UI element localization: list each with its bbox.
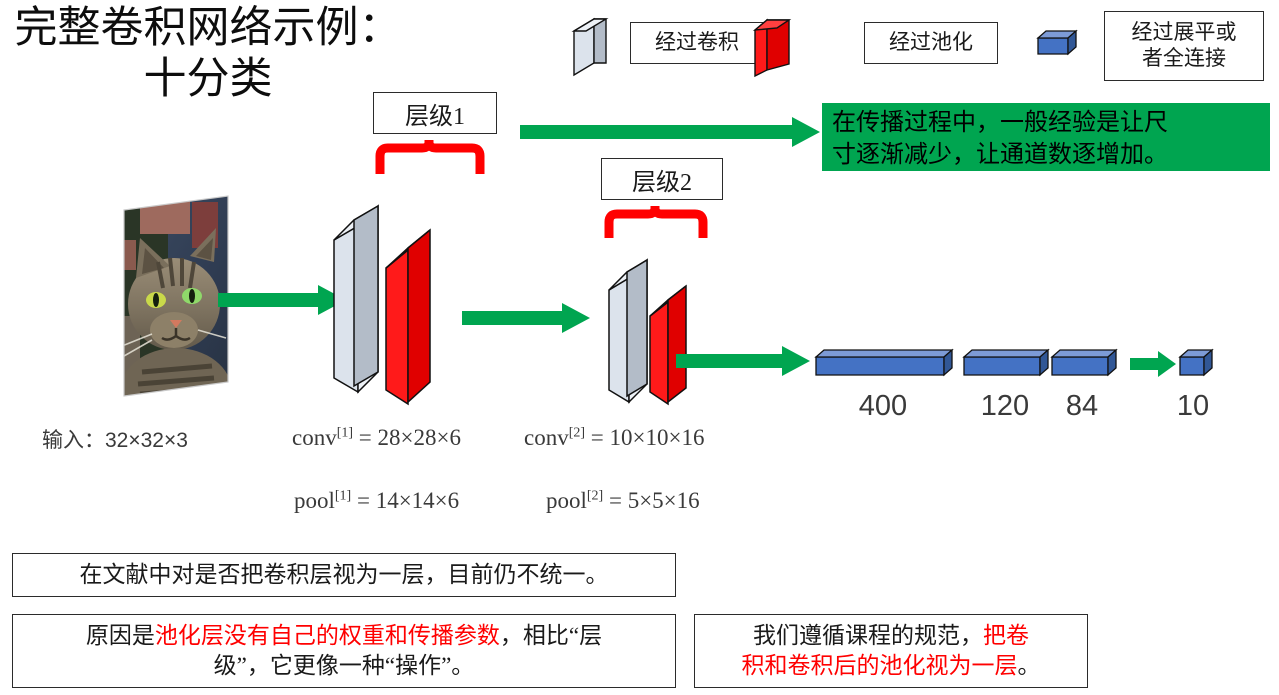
legend-blue-box-icon xyxy=(1036,28,1080,58)
legend-label-flatten-line1: 经过展平或 xyxy=(1132,20,1237,46)
formula-pool1-sup: [1] xyxy=(335,488,351,503)
layer2-pool-slab xyxy=(646,258,742,408)
page-title-line1: 完整卷积网络示例： xyxy=(15,5,402,52)
legend-label-pool: 经过池化 xyxy=(889,30,973,56)
fc-node-120 xyxy=(962,347,1058,379)
formula-conv2-name: conv xyxy=(524,425,569,450)
formula-pool1-val: = 14×14×6 xyxy=(351,488,459,513)
footnote-box-2-l1-black: 原因是 xyxy=(86,623,155,648)
legend-item-pool: 经过池化 xyxy=(864,22,998,64)
footnote-box-3-l1-black: 我们遵循课程的规范， xyxy=(753,623,983,648)
arrow-layer2-to-fc xyxy=(676,344,812,378)
footnote-box-3-line2: 积和卷积后的池化视为一层。 xyxy=(742,651,1041,681)
fc-label-84: 84 xyxy=(1048,390,1116,423)
formula-conv1: conv[1] = 28×28×6 xyxy=(292,425,461,451)
fc-label-10: 10 xyxy=(1162,390,1224,423)
footnote-box-2: 原因是池化层没有自己的权重和传播参数，相比“层 级”，它更像一种“操作”。 xyxy=(12,614,676,688)
footnote-box-2-line1: 原因是池化层没有自己的权重和传播参数，相比“层 xyxy=(86,621,602,651)
footnote-box-3-l2-black: 。 xyxy=(1018,653,1041,678)
layer1-tag: 层级1 xyxy=(373,92,497,134)
formula-conv1-sup: [1] xyxy=(337,425,353,440)
layer2-tag-label: 层级2 xyxy=(632,162,692,197)
fc-label-400: 400 xyxy=(814,390,952,423)
formula-conv2-sup: [2] xyxy=(569,425,585,440)
arrow-input-to-layer1 xyxy=(218,282,348,318)
footnote-box-3-line1: 我们遵循课程的规范，把卷 xyxy=(753,621,1029,651)
formula-conv2-val: = 10×10×16 xyxy=(585,425,704,450)
arrow-fc-to-output xyxy=(1130,350,1178,378)
fc-node-400 xyxy=(814,347,962,379)
footnote-box-3-l2-red: 积和卷积后的池化视为一层 xyxy=(742,653,1018,678)
formula-pool2-sup: [2] xyxy=(587,488,603,503)
fc-label-120: 120 xyxy=(962,390,1048,423)
green-note-box: 在传播过程中，一般经验是让尺 寸逐渐减少，让通道数逐增加。 xyxy=(822,103,1270,171)
legend-label-conv: 经过卷积 xyxy=(655,30,739,56)
footnote-box-1-text: 在文献中对是否把卷积层视为一层，目前仍不统一。 xyxy=(80,560,609,590)
footnote-box-2-line2: 级”，它更像一种“操作”。 xyxy=(214,651,475,681)
formula-conv1-name: conv xyxy=(292,425,337,450)
green-note-line2: 寸逐渐减少，让通道数逐增加。 xyxy=(832,139,1260,171)
formula-pool2-val: = 5×5×16 xyxy=(603,488,699,513)
legend-gray-slab-icon xyxy=(568,17,614,79)
legend-item-flatten: 经过展平或 者全连接 xyxy=(1104,11,1264,81)
fc-node-10 xyxy=(1178,347,1222,379)
fc-node-84 xyxy=(1050,347,1124,379)
formula-conv2: conv[2] = 10×10×16 xyxy=(524,425,704,451)
input-label: 输入：32×32×3 xyxy=(42,424,188,454)
formula-conv1-val: = 28×28×6 xyxy=(353,425,461,450)
arrow-layer1-to-layer2 xyxy=(462,300,592,336)
page-title-line2: 十分类 xyxy=(8,55,408,106)
footnote-box-1: 在文献中对是否把卷积层视为一层，目前仍不统一。 xyxy=(12,553,676,597)
layer1-tag-label: 层级1 xyxy=(405,96,465,131)
legend-item-conv: 经过卷积 xyxy=(630,22,764,64)
green-note-line1: 在传播过程中，一般经验是让尺 xyxy=(832,107,1260,139)
formula-pool2-name: pool xyxy=(546,488,587,513)
footnote-box-2-l1-black2: ，相比“层 xyxy=(500,623,602,648)
formula-pool1: pool[1] = 14×14×6 xyxy=(294,488,459,514)
legend-red-slab-icon xyxy=(749,14,797,80)
layer2-tag: 层级2 xyxy=(601,158,723,200)
footnote-box-3-l1-red: 把卷 xyxy=(983,623,1029,648)
footnote-box-2-l1-red: 池化层没有自己的权重和传播参数 xyxy=(155,623,500,648)
formula-pool1-name: pool xyxy=(294,488,335,513)
arrow-layer1-to-note xyxy=(520,115,822,149)
footnote-box-3: 我们遵循课程的规范，把卷 积和卷积后的池化视为一层。 xyxy=(694,614,1088,688)
page-title: 完整卷积网络示例： 十分类 xyxy=(8,4,408,105)
legend-label-flatten-line2: 者全连接 xyxy=(1142,46,1226,72)
formula-pool2: pool[2] = 5×5×16 xyxy=(546,488,700,514)
